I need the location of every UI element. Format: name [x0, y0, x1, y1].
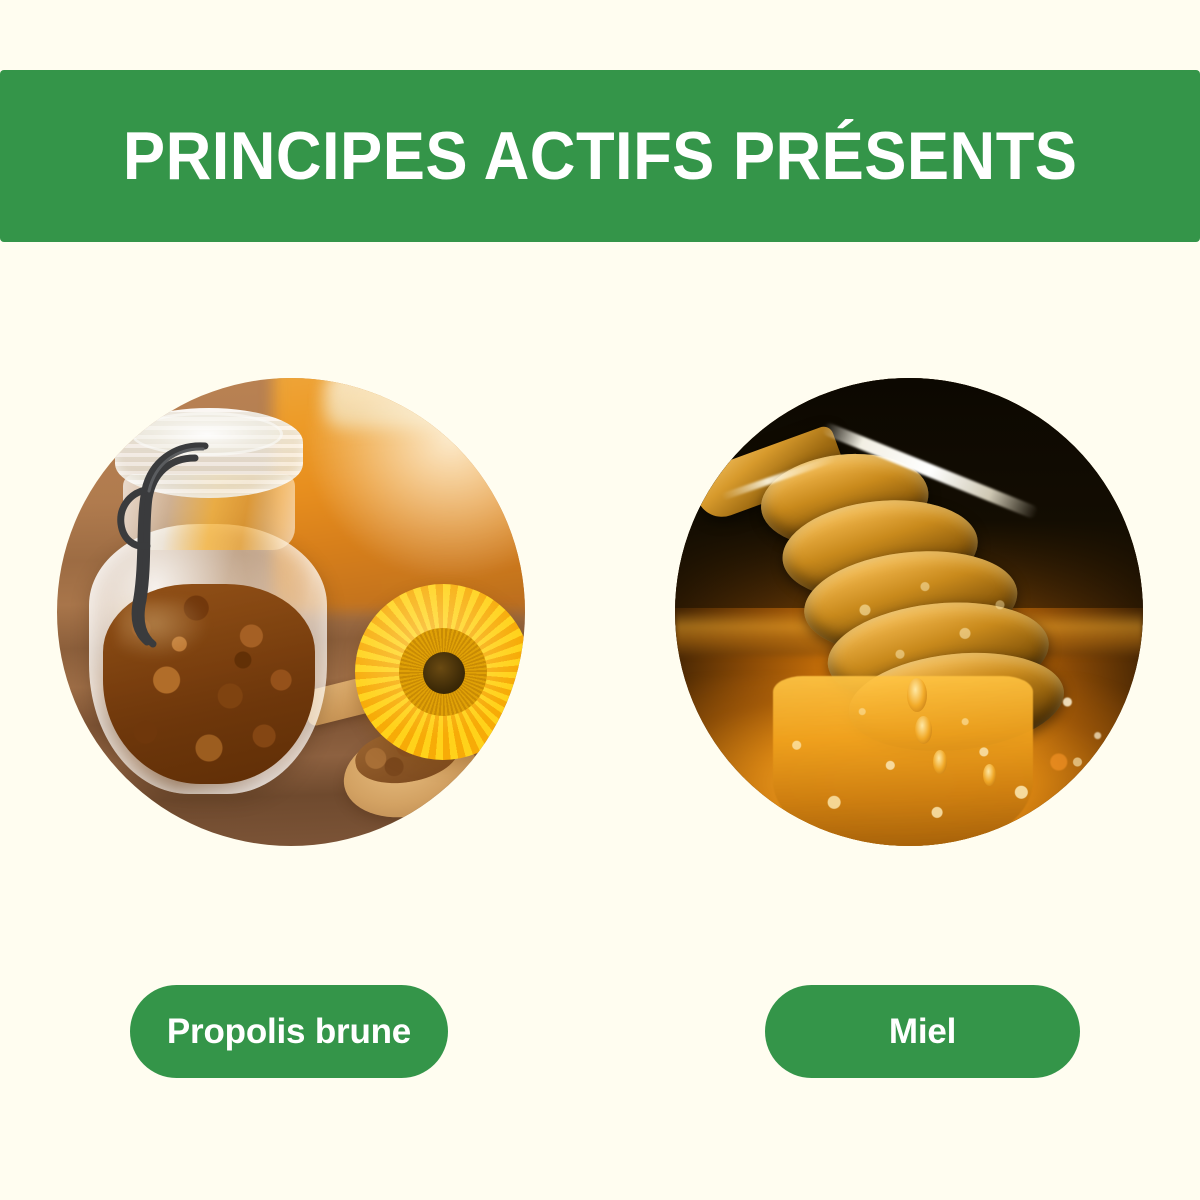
page-title: PRINCIPES ACTIFS PRÉSENTS	[123, 122, 1078, 190]
granules-highlight	[117, 600, 209, 660]
miel-photo	[675, 378, 1143, 846]
ingredient-pill-propolis-brune[interactable]: Propolis brune	[130, 985, 448, 1078]
ingredient-card-propolis-brune: Propolis brune	[57, 378, 525, 1078]
ingredient-pill-miel[interactable]: Miel	[765, 985, 1080, 1078]
honey-specks	[1035, 678, 1143, 798]
ingredient-label: Miel	[889, 1012, 956, 1052]
ingredient-card-miel: Miel	[675, 378, 1143, 1078]
honey-bubbles-upper	[795, 558, 1045, 688]
light-haze	[307, 378, 525, 578]
ingredient-label: Propolis brune	[167, 1012, 411, 1052]
header-banner: PRINCIPES ACTIFS PRÉSENTS	[0, 70, 1200, 242]
glass-jar-lid-top	[131, 412, 283, 456]
active-ingredients-grid: Propolis brune	[0, 378, 1200, 1078]
flower-core	[423, 652, 465, 694]
propolis-brune-photo	[57, 378, 525, 846]
gerbera-flower	[355, 584, 525, 760]
